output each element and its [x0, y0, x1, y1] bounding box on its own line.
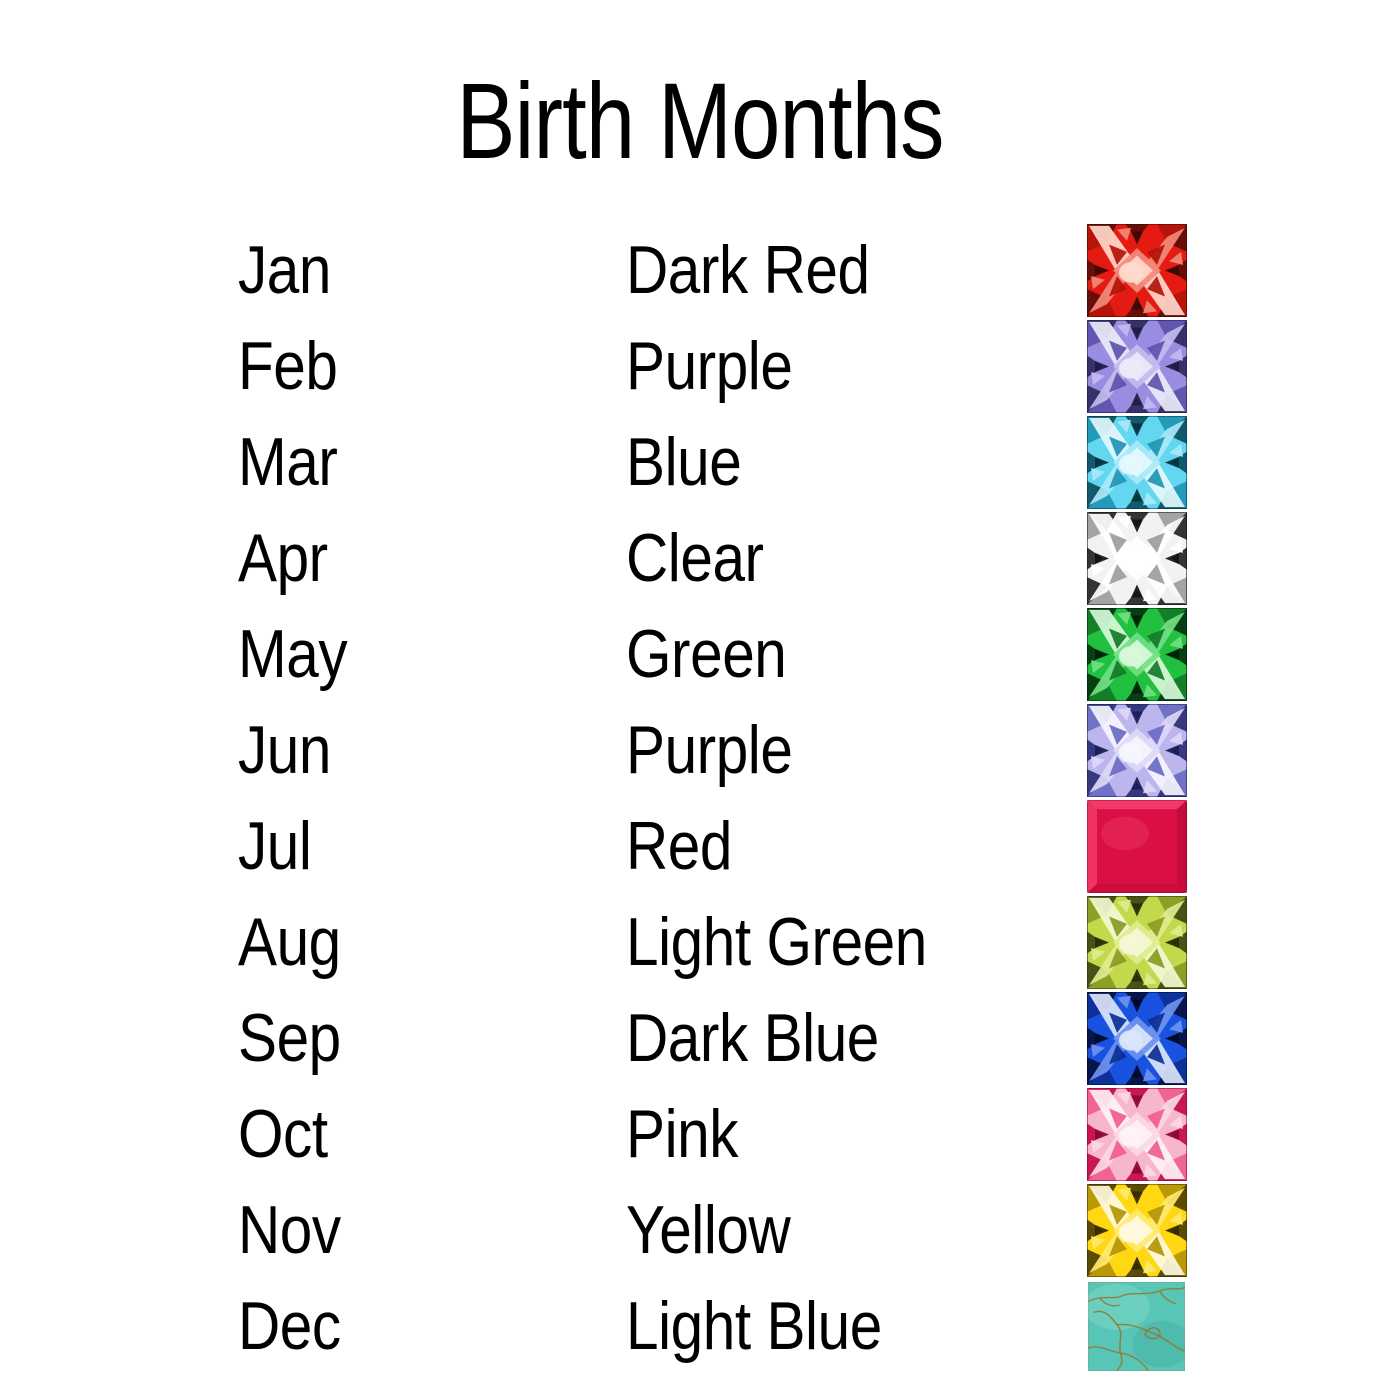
color-label: Blue	[626, 414, 741, 510]
color-label: Pink	[626, 1086, 738, 1182]
month-label: Jun	[238, 702, 331, 798]
ruby-gem	[1087, 800, 1187, 893]
month-label: Mar	[238, 414, 337, 510]
birth-month-row: MarBlue	[0, 414, 1400, 510]
month-label: Sep	[238, 990, 341, 1086]
gem-swatch	[1085, 1182, 1188, 1278]
birth-month-row: MayGreen	[0, 606, 1400, 702]
gem-swatch	[1085, 894, 1188, 990]
gem-swatch	[1085, 318, 1188, 414]
color-label: Purple	[626, 318, 792, 414]
citrine-gem	[1087, 1184, 1187, 1277]
color-label: Dark Red	[626, 222, 870, 318]
alexandrite-gem	[1087, 704, 1187, 797]
color-label: Red	[626, 798, 732, 894]
diamond-gem	[1087, 512, 1187, 605]
aquamarine-gem	[1087, 416, 1187, 509]
month-label: Aug	[238, 894, 341, 990]
gem-swatch	[1085, 414, 1188, 510]
color-label: Clear	[626, 510, 764, 606]
turquoise-gem	[1088, 1282, 1185, 1371]
tourmaline-gem	[1087, 1088, 1187, 1181]
birth-month-row: JanDark Red	[0, 222, 1400, 318]
birth-month-row: JulRed	[0, 798, 1400, 894]
month-label: Dec	[238, 1278, 341, 1374]
month-label: Oct	[238, 1086, 328, 1182]
month-label: Jul	[238, 798, 311, 894]
birth-month-row: AugLight Green	[0, 894, 1400, 990]
garnet-gem	[1087, 224, 1187, 317]
month-label: Jan	[238, 222, 331, 318]
sapphire-gem	[1087, 992, 1187, 1085]
birth-month-row: JunPurple	[0, 702, 1400, 798]
birth-months-list: JanDark RedFebPurpleMarBlueAprClearMayGr…	[0, 222, 1400, 1374]
month-label: Feb	[238, 318, 337, 414]
birth-month-row: OctPink	[0, 1086, 1400, 1182]
gem-swatch	[1085, 222, 1188, 318]
gem-swatch	[1085, 510, 1188, 606]
peridot-gem	[1087, 896, 1187, 989]
gem-swatch	[1085, 798, 1188, 894]
gem-swatch	[1085, 1278, 1188, 1374]
color-label: Yellow	[626, 1182, 790, 1278]
color-label: Light Green	[626, 894, 927, 990]
month-label: Nov	[238, 1182, 341, 1278]
birth-month-row: SepDark Blue	[0, 990, 1400, 1086]
color-label: Dark Blue	[626, 990, 879, 1086]
birth-month-row: DecLight Blue	[0, 1278, 1400, 1374]
month-label: Apr	[238, 510, 328, 606]
color-label: Green	[626, 606, 786, 702]
gem-swatch	[1085, 702, 1188, 798]
birth-month-row: NovYellow	[0, 1182, 1400, 1278]
page-title: Birth Months	[126, 62, 1274, 180]
color-label: Light Blue	[626, 1278, 882, 1374]
amethyst-gem	[1087, 320, 1187, 413]
birth-month-row: FebPurple	[0, 318, 1400, 414]
emerald-gem	[1087, 608, 1187, 701]
gem-swatch	[1085, 606, 1188, 702]
month-label: May	[238, 606, 347, 702]
birth-month-row: AprClear	[0, 510, 1400, 606]
birth-months-page: Birth Months JanDark RedFebPurpleMarBlue…	[0, 0, 1400, 1400]
color-label: Purple	[626, 702, 792, 798]
gem-swatch	[1085, 1086, 1188, 1182]
gem-swatch	[1085, 990, 1188, 1086]
